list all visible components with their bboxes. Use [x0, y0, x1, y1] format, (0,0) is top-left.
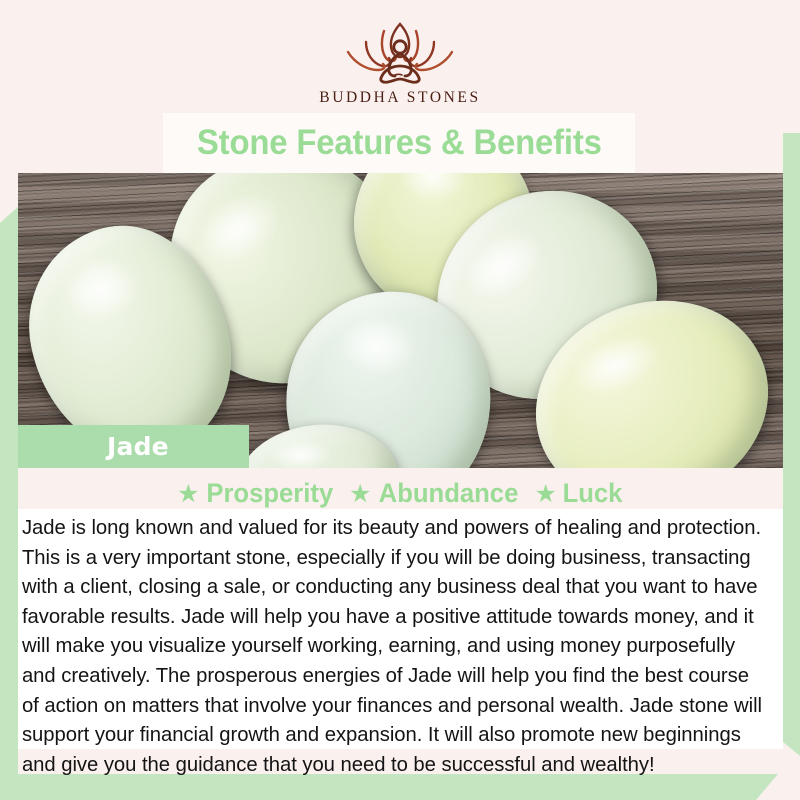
brand-header: BUDDHA STONES	[0, 0, 800, 113]
decorative-band-right	[783, 133, 800, 756]
stone-name-text: Jade	[107, 432, 169, 461]
star-icon: ★	[534, 479, 556, 509]
page-title: Stone Features & Benefits	[197, 123, 602, 163]
brand-wordmark: BUDDHA STONES	[0, 89, 800, 107]
star-icon: ★	[177, 479, 199, 509]
section-title-band: Stone Features & Benefits	[163, 113, 635, 173]
keyword-prosperity: Prosperity	[207, 478, 334, 509]
keyword-list: ★Prosperity★Abundance★Luck	[18, 478, 783, 509]
lotus-meditation-icon	[336, 18, 464, 86]
content-area: ★Prosperity★Abundance★Luck Jade is long …	[18, 468, 783, 774]
keyword-abundance: Abundance	[379, 478, 519, 509]
description-text: Jade is long known and valued for its be…	[18, 509, 772, 779]
star-icon: ★	[349, 479, 371, 509]
description-box: Jade is long known and valued for its be…	[18, 509, 783, 749]
decorative-band-left	[0, 205, 20, 800]
stone-photo	[18, 173, 783, 468]
stone-name-label: Jade	[18, 425, 249, 468]
stone-info-card: BUDDHA STONES Stone Features & Benefits …	[0, 0, 800, 800]
keyword-luck: Luck	[562, 478, 622, 509]
brand-logo: BUDDHA STONES	[0, 18, 800, 107]
